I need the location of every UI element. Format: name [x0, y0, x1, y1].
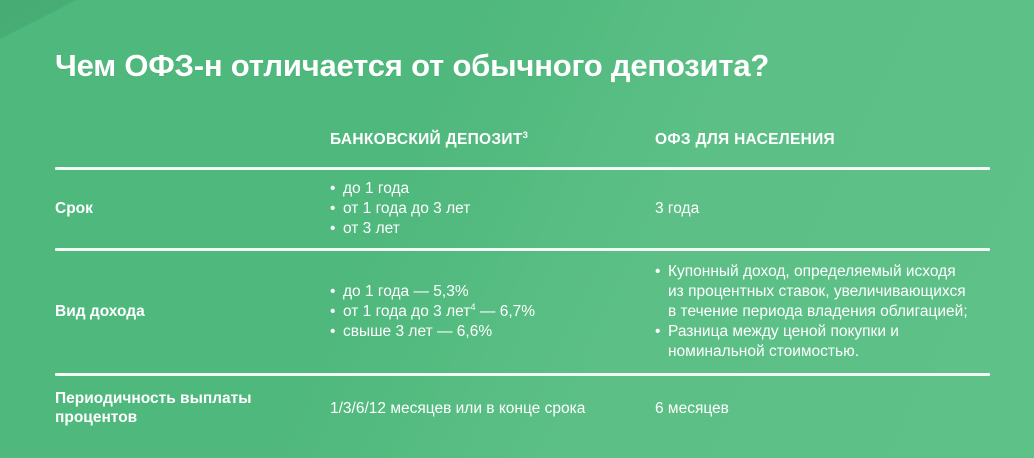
list-item: от 3 лет [330, 219, 645, 239]
cell-ofz-periodichnost: 6 месяцев [655, 399, 979, 419]
bullet-text: от 3 лет [343, 220, 400, 237]
header-bank-deposit-text: БАНКОВСКИЙ ДЕПОЗИТ [330, 131, 523, 148]
list-item: до 1 года [330, 179, 645, 199]
list-item: свыше 3 лет — 6,6% [330, 322, 645, 342]
bullet-text: до 1 года — 5,3% [343, 283, 469, 300]
list-item: до 1 года — 5,3% [330, 282, 645, 302]
bullet-list-bank-vid-dohoda: до 1 года — 5,3% от 1 года до 3 лет4 — 6… [330, 282, 645, 342]
row-label-periodichnost: Периодичность выплаты процентов [55, 390, 330, 428]
bullet-text: Купонный доход, определяемый исходя из п… [668, 263, 968, 320]
bullet-text: свыше 3 лет — 6,6% [343, 323, 492, 340]
bullet-list-bank-srok: до 1 года от 1 года до 3 лет от 3 лет [330, 179, 645, 239]
page-title: Чем ОФЗ-н отличается от обычного депозит… [55, 49, 769, 84]
corner-wedge-decoration [0, 0, 90, 46]
bullet-text-suffix: — 6,7% [476, 303, 535, 320]
list-item: от 1 года до 3 лет [330, 199, 645, 219]
header-bank-deposit-footnote: 3 [523, 129, 529, 140]
list-item: Купонный доход, определяемый исходя из п… [655, 262, 969, 322]
cell-ofz-vid-dohoda: Купонный доход, определяемый исходя из п… [655, 262, 979, 363]
infographic-card: Чем ОФЗ-н отличается от обычного депозит… [0, 0, 1034, 458]
table-row-vid-dohoda: Вид дохода до 1 года — 5,3% от 1 года до… [0, 251, 1034, 373]
cell-bank-periodichnost: 1/3/6/12 месяцев или в конце срока [330, 399, 655, 419]
bullet-text: Разница между ценой покупки и номинально… [668, 323, 899, 360]
bullet-text: от 1 года до 3 лет [343, 303, 470, 320]
bullet-list-ofz-vid-dohoda: Купонный доход, определяемый исходя из п… [655, 262, 969, 363]
table-row-periodichnost: Периодичность выплаты процентов 1/3/6/12… [0, 376, 1034, 442]
row-label-srok: Срок [55, 200, 330, 219]
cell-bank-vid-dohoda: до 1 года — 5,3% от 1 года до 3 лет4 — 6… [330, 282, 655, 342]
header-cell-ofz: ОФЗ ДЛЯ НАСЕЛЕНИЯ [655, 131, 979, 149]
header-cell-bank-deposit: БАНКОВСКИЙ ДЕПОЗИТ3 [330, 131, 655, 149]
list-item: от 1 года до 3 лет4 — 6,7% [330, 302, 645, 322]
comparison-table: БАНКОВСКИЙ ДЕПОЗИТ3 ОФЗ ДЛЯ НАСЕЛЕНИЯ Ср… [0, 112, 1034, 442]
cell-ofz-srok: 3 года [655, 199, 979, 219]
table-header-row: БАНКОВСКИЙ ДЕПОЗИТ3 ОФЗ ДЛЯ НАСЕЛЕНИЯ [0, 112, 1034, 167]
table-row-srok: Срок до 1 года от 1 года до 3 лет от 3 л… [0, 170, 1034, 248]
cell-bank-srok: до 1 года от 1 года до 3 лет от 3 лет [330, 179, 655, 239]
row-label-vid-dohoda: Вид дохода [55, 303, 330, 322]
list-item: Разница между ценой покупки и номинально… [655, 322, 969, 362]
bullet-text: от 1 года до 3 лет [343, 200, 470, 217]
bullet-text: до 1 года [343, 180, 409, 197]
